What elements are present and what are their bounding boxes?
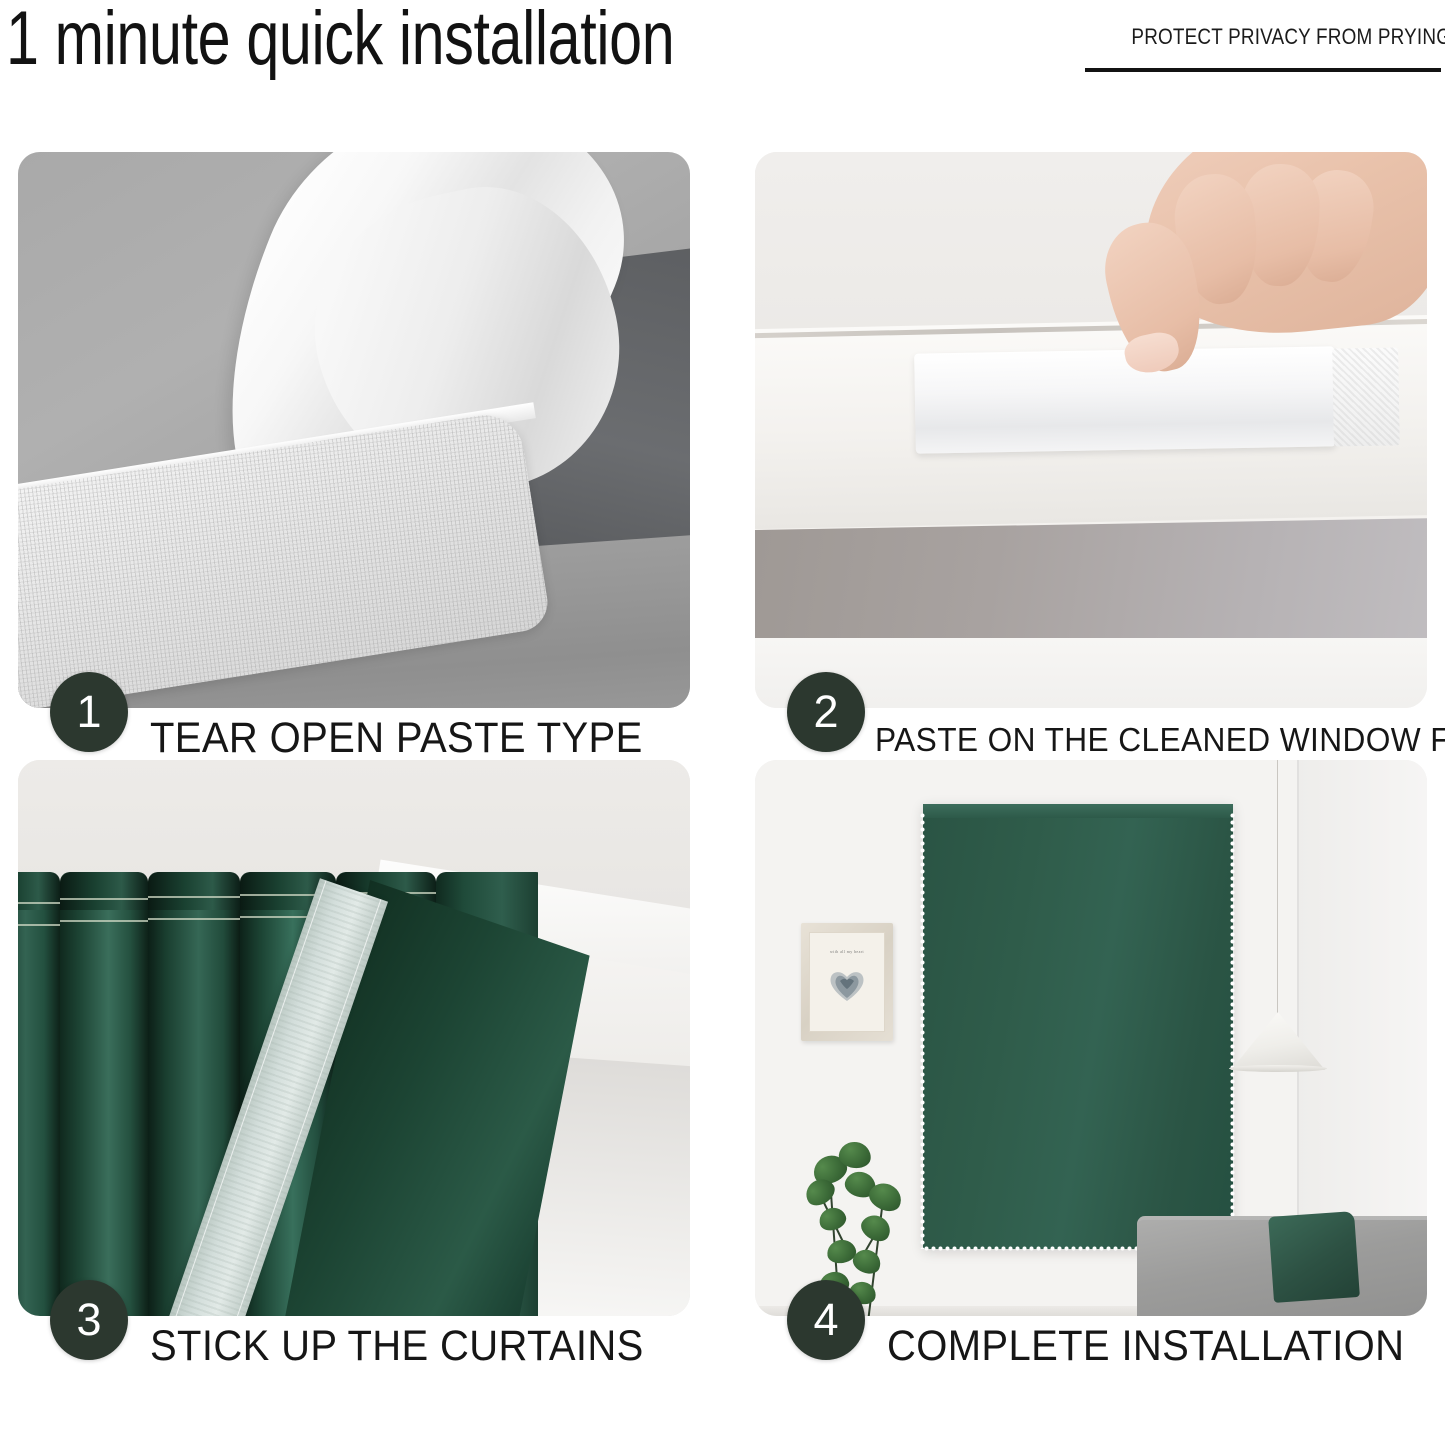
heart-icon xyxy=(827,967,867,1003)
p3-pleat-header xyxy=(148,872,240,910)
p4-plant-leaf xyxy=(857,1210,895,1246)
tagline-text: PROTECT PRIVACY FROM PRYING EYES xyxy=(1131,24,1441,50)
p4-installed-curtain xyxy=(923,804,1233,1249)
p3-stitch-line xyxy=(148,896,240,898)
p4-pendant-cord xyxy=(1277,760,1278,1018)
p3-stitch-line xyxy=(18,924,60,926)
p4-curtain-header xyxy=(923,804,1233,818)
p3-stitch-line xyxy=(60,898,148,900)
step-1-badge: 1 xyxy=(50,672,128,752)
p3-stitch-line xyxy=(60,920,148,922)
p3-pleat xyxy=(18,872,60,1316)
p2-hand xyxy=(1085,152,1427,412)
p4-plant-leaf xyxy=(816,1204,848,1233)
p4-pendant-lamp-rim xyxy=(1229,1065,1327,1072)
step-4-caption: 4 COMPLETE INSTALLATION xyxy=(755,1316,1427,1408)
steps-grid: 1 TEAR OPEN PASTE TYPE 2 PASTE ON THE CL… xyxy=(18,152,1430,1407)
step-1-image xyxy=(18,152,690,708)
step-1-label: TEAR OPEN PASTE TYPE xyxy=(150,714,643,763)
header: 1 minute quick installation PROTECT PRIV… xyxy=(0,0,1445,150)
p3-pleat-header xyxy=(60,872,148,910)
p4-green-cushion xyxy=(1268,1211,1360,1303)
tagline-underline xyxy=(1085,68,1441,72)
step-2-badge: 2 xyxy=(787,672,865,752)
p3-pleat xyxy=(60,872,148,1316)
p4-wall-art-mat: with all my heart xyxy=(809,932,885,1032)
p4-lace-edge-right xyxy=(1229,812,1236,1249)
page-title: 1 minute quick installation xyxy=(6,0,674,84)
p4-wall-art-frame: with all my heart xyxy=(801,923,893,1041)
p4-wall-art-caption: with all my heart xyxy=(810,949,884,954)
step-3-badge: 3 xyxy=(50,1280,128,1360)
step-4-image: with all my heart xyxy=(755,760,1427,1316)
step-3-caption: 3 STICK UP THE CURTAINS xyxy=(18,1316,690,1408)
step-4-label: COMPLETE INSTALLATION xyxy=(887,1322,1404,1371)
tagline-block: PROTECT PRIVACY FROM PRYING EYES xyxy=(1081,24,1441,50)
step-3-label: STICK UP THE CURTAINS xyxy=(150,1322,644,1371)
p3-stitch-line xyxy=(18,902,60,904)
step-4-badge: 4 xyxy=(787,1280,865,1360)
step-2-label: PASTE ON THE CLEANED WINDOW FRAME xyxy=(875,721,1445,759)
step-2-image xyxy=(755,152,1427,708)
p3-stitch-line xyxy=(148,918,240,920)
p3-pleat-header xyxy=(18,872,60,910)
step-3-image xyxy=(18,760,690,1316)
